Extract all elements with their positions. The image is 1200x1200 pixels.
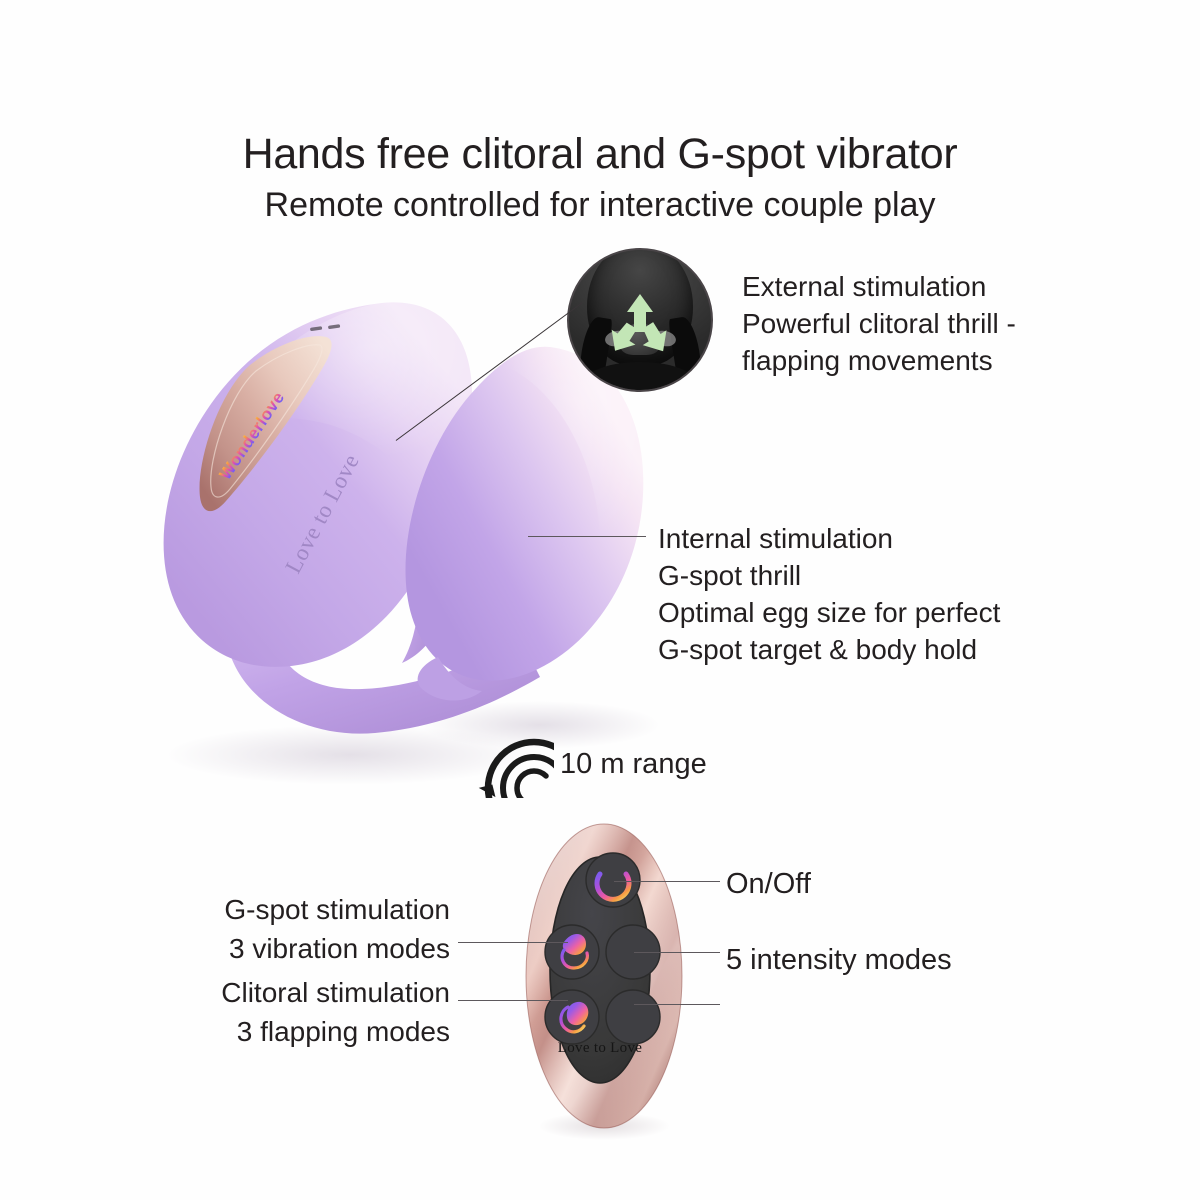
internal-line-2: G-spot thrill [658,557,1000,594]
leader-line-internal [528,536,646,537]
gspot-modes-text: G-spot stimulation 3 vibration modes [0,890,450,968]
internal-stimulation-text: Internal stimulation G-spot thrill Optim… [658,520,1000,668]
power-button [586,853,640,907]
intensity-modes-label: 5 intensity modes [726,942,952,979]
leader-line-gspot [458,942,568,943]
gspot-line-1: G-spot stimulation [0,890,450,929]
external-line-2: Powerful clitoral thrill - [742,305,1016,342]
gspot-line-2: 3 vibration modes [0,929,450,968]
minus-button [606,990,660,1044]
external-line-1: External stimulation [742,268,1016,305]
leader-line-onoff [614,881,720,882]
internal-line-1: Internal stimulation [658,520,1000,557]
infographic-root: Hands free clitoral and G-spot vibrator … [0,0,1200,1200]
external-stimulation-detail-circle [567,248,713,392]
leader-line-plus [634,952,720,953]
page-title: Hands free clitoral and G-spot vibrator [0,130,1200,179]
gspot-button [545,925,599,979]
leader-line-clitoral [458,1000,568,1001]
page-subtitle: Remote controlled for interactive couple… [0,186,1200,225]
on-off-label: On/Off [726,866,811,903]
internal-line-4: G-spot target & body hold [658,631,1000,668]
remote-brand-label: Love to Love [558,1040,642,1057]
clitoral-button [545,990,599,1044]
clitoral-line-2: 3 flapping modes [0,1012,450,1051]
internal-line-3: Optimal egg size for perfect [658,594,1000,631]
external-line-3: flapping movements [742,342,1016,379]
clitoral-modes-text: Clitoral stimulation 3 flapping modes [0,973,450,1051]
external-stimulation-text: External stimulation Powerful clitoral t… [742,268,1016,379]
range-label: 10 m range [560,746,707,783]
remote-control[interactable] [520,818,688,1140]
clitoral-line-1: Clitoral stimulation [0,973,450,1012]
wifi-icon [462,726,554,798]
leader-line-minus [634,1004,720,1005]
